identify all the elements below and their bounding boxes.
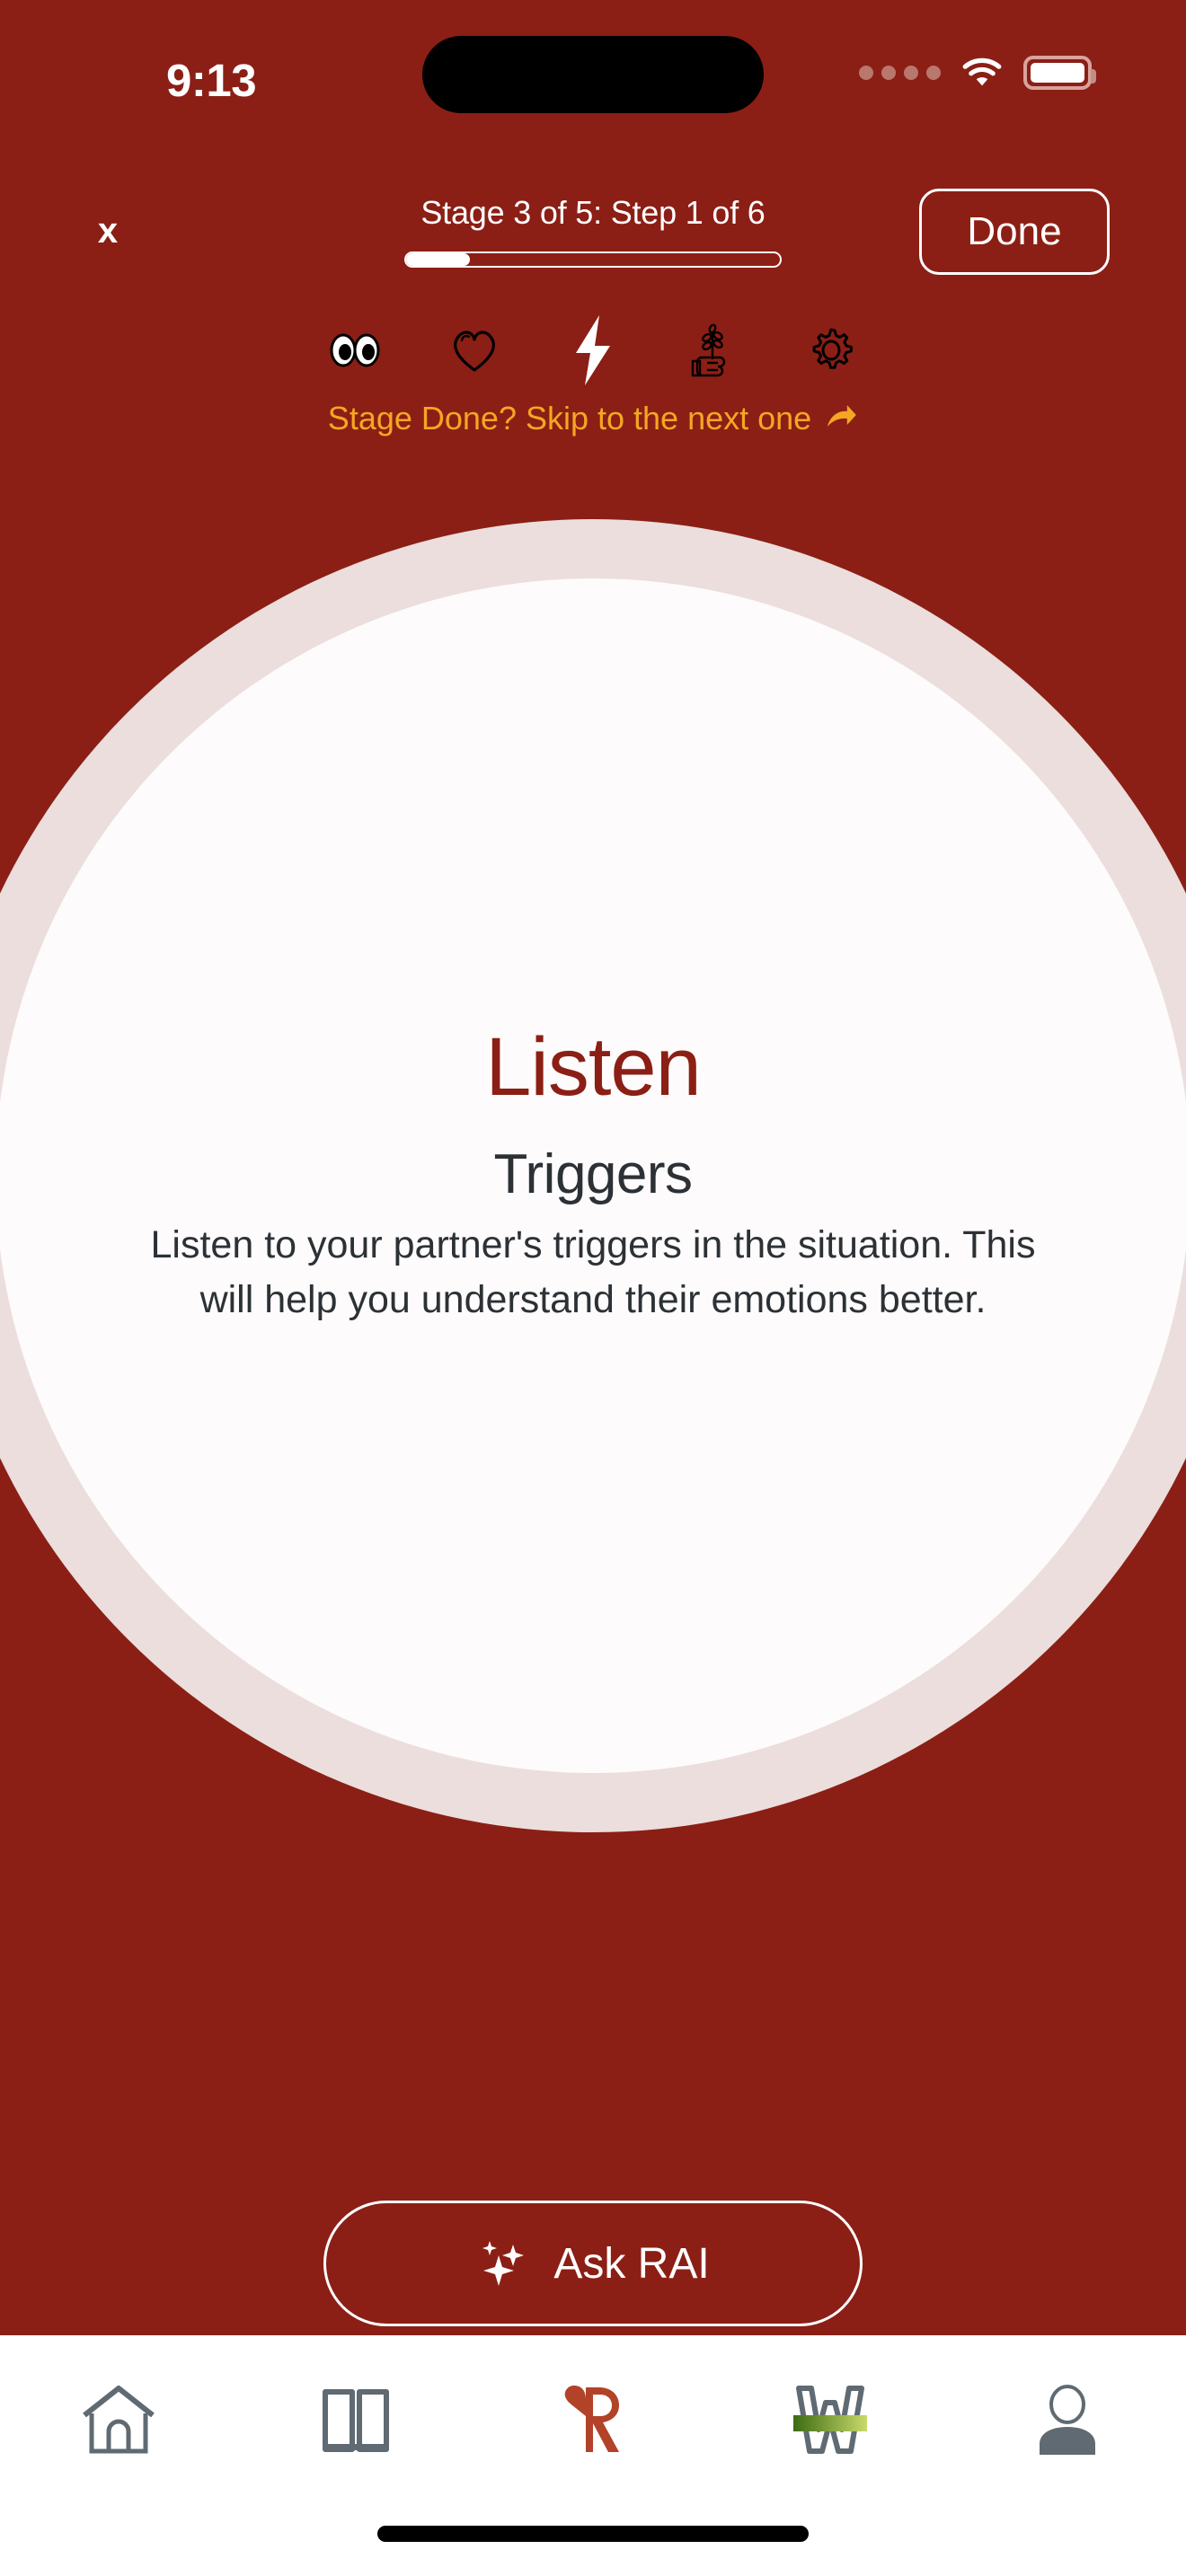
header-bar: x Stage 3 of 5: Step 1 of 6 Done xyxy=(0,180,1186,296)
r-logo-icon xyxy=(553,2382,633,2459)
stage-icon-lightning[interactable] xyxy=(553,310,633,391)
battery-full-icon xyxy=(1023,56,1092,90)
dynamic-island xyxy=(422,36,764,113)
cellular-dots-icon xyxy=(859,66,941,80)
tab-relate[interactable] xyxy=(503,2362,683,2479)
home-indicator xyxy=(377,2526,809,2542)
lesson-card[interactable]: Listen Triggers Listen to your partner's… xyxy=(0,578,1186,1773)
w-logo-icon xyxy=(790,2383,871,2458)
stage-icon-gear[interactable] xyxy=(791,310,872,391)
bottom-tab-bar xyxy=(0,2335,1186,2576)
skip-stage-label: Stage Done? Skip to the next one xyxy=(328,400,811,437)
home-icon xyxy=(79,2385,158,2457)
stage-icon-heart[interactable] xyxy=(434,310,515,391)
lesson-card-ring: Listen Triggers Listen to your partner's… xyxy=(0,519,1186,1832)
stage-step-label: Stage 3 of 5: Step 1 of 6 xyxy=(404,194,782,232)
status-time: 9:13 xyxy=(166,54,256,107)
progress-bar-fill xyxy=(406,253,470,266)
card-subtitle: Triggers xyxy=(493,1144,692,1205)
progress-bar[interactable] xyxy=(404,251,782,268)
done-button[interactable]: Done xyxy=(919,189,1110,275)
stage-icon-hand-plant[interactable] xyxy=(672,310,753,391)
app-screen: 9:13 x Stage 3 of 5: Step 1 of 6 xyxy=(0,0,1186,2576)
skip-stage-link[interactable]: Stage Done? Skip to the next one xyxy=(328,400,858,437)
arrow-right-icon xyxy=(824,403,858,434)
tab-home[interactable] xyxy=(29,2362,208,2479)
card-body-text: Listen to your partner's triggers in the… xyxy=(130,1218,1056,1328)
close-button[interactable]: x xyxy=(76,199,139,262)
status-bar: 9:13 xyxy=(0,0,1186,135)
tab-library[interactable] xyxy=(266,2362,446,2479)
ask-rai-label: Ask RAI xyxy=(553,2239,709,2289)
stage-icon-row xyxy=(314,310,872,391)
status-indicators xyxy=(859,56,1092,90)
progress-section: Stage 3 of 5: Step 1 of 6 xyxy=(404,194,782,268)
tab-wisdom[interactable] xyxy=(740,2362,920,2479)
sparkles-icon xyxy=(476,2237,528,2289)
wifi-icon xyxy=(960,57,1004,89)
stage-icon-eyes[interactable] xyxy=(314,310,395,391)
book-icon xyxy=(320,2385,392,2457)
person-icon xyxy=(1032,2385,1102,2457)
tab-profile[interactable] xyxy=(978,2362,1157,2479)
ask-rai-button[interactable]: Ask RAI xyxy=(323,2201,863,2326)
card-title: Listen xyxy=(485,1024,701,1111)
